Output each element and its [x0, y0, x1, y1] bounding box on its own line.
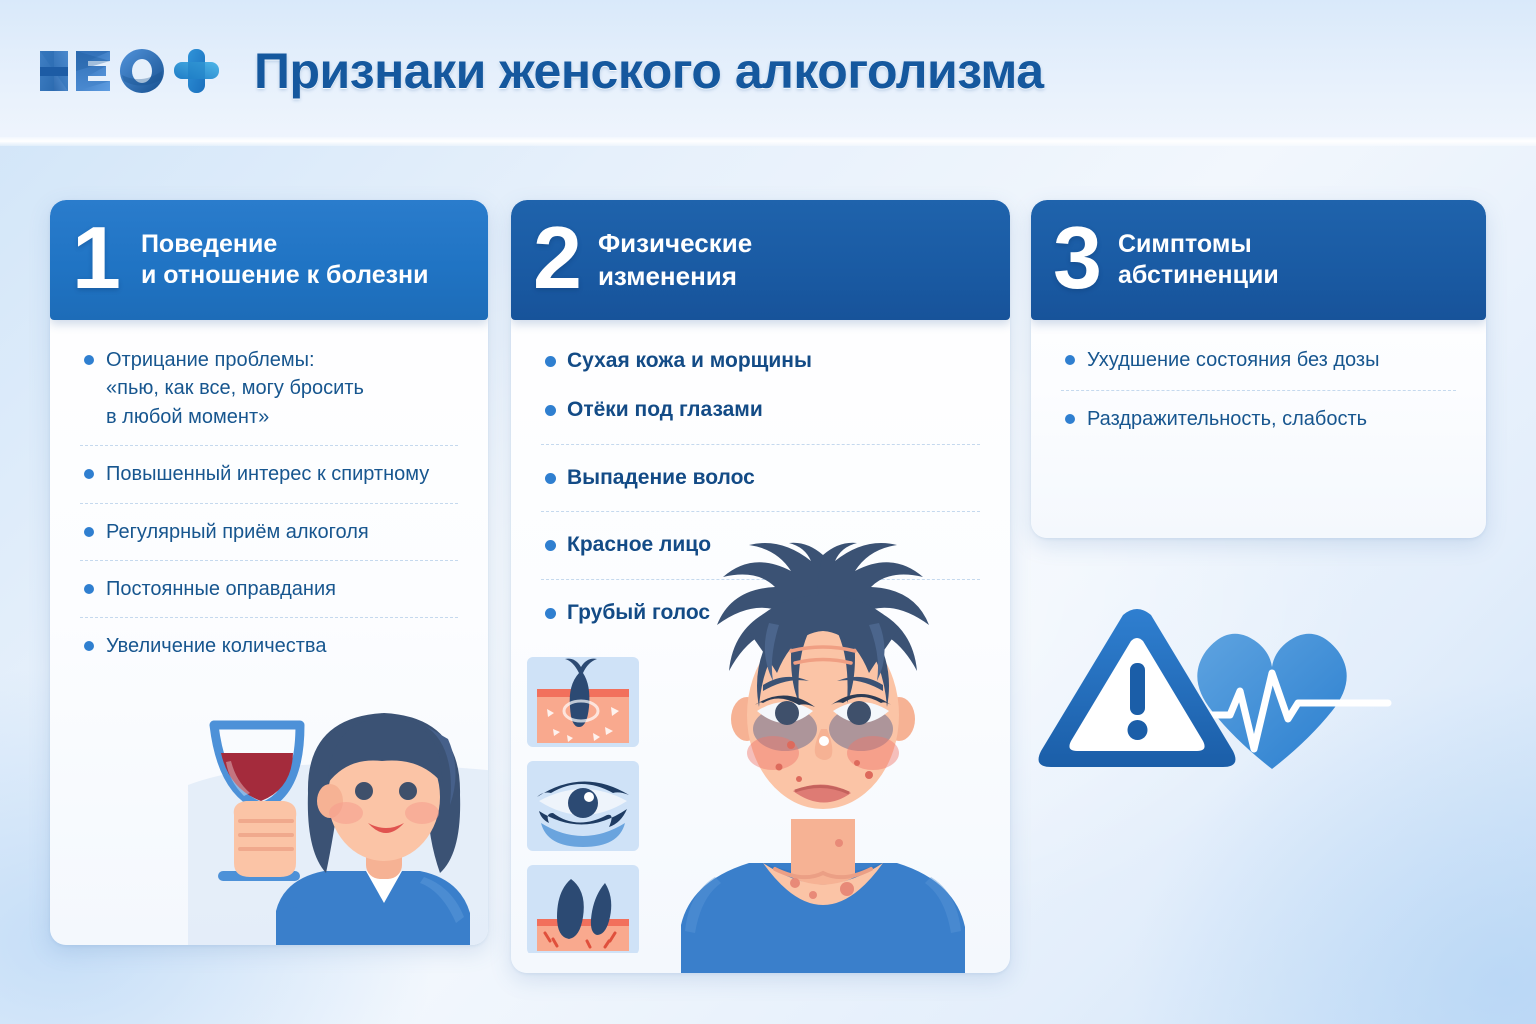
list-item: Выпадение волос	[537, 463, 984, 512]
page-header: Признаки женского алкоголизма	[0, 0, 1536, 142]
list-item: Повышенный интерес к спиртному	[76, 460, 462, 502]
list-item: Регулярный приём алкоголя	[76, 518, 462, 560]
list-item-label: Выпадение волос	[567, 466, 755, 489]
page-title: Признаки женского алкоголизма	[254, 42, 1044, 100]
hair-loss-icon	[527, 865, 639, 953]
card-title-line2: изменения	[598, 260, 752, 293]
brand-logo	[34, 40, 234, 102]
divider	[80, 503, 458, 504]
divider	[541, 579, 980, 580]
bullet-dot-icon	[84, 527, 94, 537]
bullet-dot-icon	[1065, 414, 1075, 424]
list-item-label: Грубый голос	[567, 601, 710, 624]
list-item-label: Увеличение количества	[106, 635, 326, 657]
card-behavior: 1 Поведение и отношение к болезни Отрица…	[50, 200, 488, 945]
bullet-dot-icon	[545, 540, 556, 551]
dry-skin-follicle-icon	[527, 657, 639, 747]
card-title-line1: Физические	[598, 228, 752, 258]
card-behavior-header: 1 Поведение и отношение к болезни	[50, 200, 488, 320]
list-item: Ухудшение состояния без дозы	[1057, 346, 1460, 390]
card-number: 3	[1053, 222, 1102, 294]
cards-container: 1 Поведение и отношение к болезни Отрица…	[0, 142, 1536, 1024]
card-number: 2	[533, 222, 582, 294]
list-item-label: Красное лицо	[567, 533, 711, 556]
list-item: Сухая кожа и морщины	[537, 346, 984, 395]
card-withdrawal-symptoms-bullets: Ухудшение состояния без дозы Раздражител…	[1031, 320, 1486, 450]
card-title-line2: абстиненции	[1118, 260, 1279, 292]
divider	[1061, 390, 1456, 391]
card-title: Поведение и отношение к болезни	[141, 229, 429, 292]
eye-with-bags-icon	[527, 761, 639, 851]
list-item: Отрицание проблемы: «пью, как все, могу …	[76, 346, 462, 445]
card-withdrawal-symptoms-header: 3 Симптомы абстиненции	[1031, 200, 1486, 320]
woman-with-wine-glass-icon	[188, 665, 488, 945]
list-item: Раздражительность, слабость	[1057, 405, 1460, 449]
card-physical-changes: 2 Физические изменения Сухая кожа и морщ…	[511, 200, 1010, 973]
divider	[80, 560, 458, 561]
list-item-label: Регулярный приём алкоголя	[106, 521, 369, 543]
divider	[80, 617, 458, 618]
divider	[541, 511, 980, 512]
card-physical-changes-bullets: Сухая кожа и морщины Отёки под глазами В…	[511, 320, 1010, 647]
card-physical-changes-body: 2 Физические изменения Сухая кожа и морщ…	[511, 200, 1010, 973]
card-number: 1	[72, 222, 121, 294]
list-item: Отёки под глазами	[537, 395, 984, 444]
bullet-dot-icon	[545, 473, 556, 484]
card-behavior-bullets: Отрицание проблемы: «пью, как все, могу …	[50, 320, 488, 675]
list-item-label: Раздражительность, слабость	[1087, 408, 1367, 430]
bullet-dot-icon	[84, 355, 94, 365]
card-title-line2: и отношение к болезни	[141, 260, 429, 292]
symptom-tiles	[523, 653, 643, 953]
card-title: Физические изменения	[598, 227, 752, 293]
bullet-dot-icon	[545, 356, 556, 367]
card-physical-changes-header: 2 Физические изменения	[511, 200, 1010, 320]
bullet-dot-icon	[84, 641, 94, 651]
card-title: Симптомы абстиненции	[1118, 229, 1279, 292]
bullet-dot-icon	[84, 584, 94, 594]
card-title-line1: Поведение	[141, 230, 277, 258]
list-item: Красное лицо	[537, 530, 984, 579]
warning-triangle-and-heartbeat-icon	[1031, 597, 1486, 817]
list-item: Увеличение количества	[76, 632, 462, 674]
bullet-dot-icon	[84, 469, 94, 479]
card-withdrawal-symptoms-body: 3 Симптомы абстиненции Ухудшение состоян…	[1031, 200, 1486, 538]
card-withdrawal-symptoms: 3 Симптомы абстиненции Ухудшение состоян…	[1031, 200, 1486, 538]
list-item: Грубый голос	[537, 598, 984, 647]
list-item-label: Сухая кожа и морщины	[567, 349, 812, 372]
card-behavior-body: 1 Поведение и отношение к болезни Отрица…	[50, 200, 488, 945]
list-item-label: Отрицание проблемы: «пью, как все, могу …	[106, 349, 364, 428]
card-title-line1: Симптомы	[1118, 230, 1252, 258]
list-item-label: Повышенный интерес к спиртному	[106, 463, 429, 485]
bullet-dot-icon	[545, 608, 556, 619]
bullet-dot-icon	[1065, 355, 1075, 365]
list-item-label: Постоянные оправдания	[106, 578, 336, 600]
divider	[541, 444, 980, 445]
list-item-label: Отёки под глазами	[567, 398, 763, 421]
list-item-label: Ухудшение состояния без дозы	[1087, 349, 1379, 371]
list-item: Постоянные оправдания	[76, 575, 462, 617]
bullet-dot-icon	[545, 405, 556, 416]
divider	[80, 445, 458, 446]
